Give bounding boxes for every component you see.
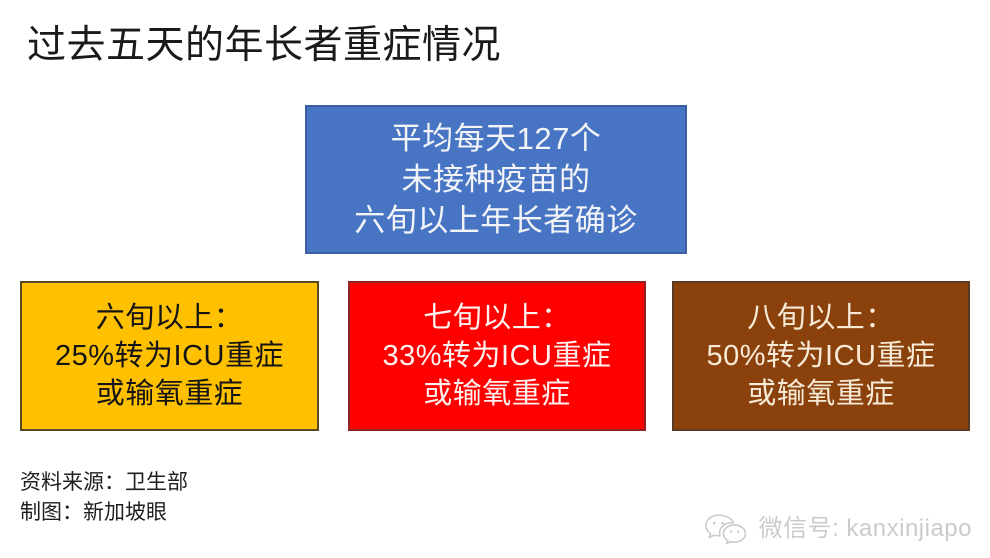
infographic-canvas: 过去五天的年长者重症情况 平均每天127个 未接种疫苗的 六旬以上年长者确诊 六… [0, 0, 990, 558]
age-group-70-heading: 七旬以上： [423, 299, 571, 337]
wechat-icon [703, 512, 749, 546]
summary-box: 平均每天127个 未接种疫苗的 六旬以上年长者确诊 [305, 105, 687, 254]
age-group-70-detail-1: 33%转为ICU重症 [383, 337, 612, 375]
footer-attribution: 资料来源：卫生部 制图：新加坡眼 [20, 468, 188, 528]
page-title: 过去五天的年长者重症情况 [27, 22, 501, 70]
age-group-70-detail-2: 或输氧重症 [423, 375, 571, 413]
age-group-80-detail-2: 或输氧重症 [747, 375, 895, 413]
age-group-60-detail-1: 25%转为ICU重症 [55, 337, 284, 375]
age-group-box-60-plus: 六旬以上： 25%转为ICU重症 或输氧重症 [20, 281, 319, 431]
age-group-60-detail-2: 或输氧重症 [96, 375, 244, 413]
age-group-box-70-plus: 七旬以上： 33%转为ICU重症 或输氧重症 [348, 281, 646, 431]
wechat-watermark: 微信号: kanxinjiapo [703, 512, 972, 546]
footer-source-line: 资料来源：卫生部 [20, 468, 188, 498]
footer-credit-line: 制图：新加坡眼 [20, 498, 188, 528]
summary-line-3: 六旬以上年长者确诊 [354, 200, 638, 241]
summary-line-1: 平均每天127个 [391, 118, 602, 159]
age-group-80-detail-1: 50%转为ICU重症 [707, 337, 936, 375]
age-group-60-heading: 六旬以上： [96, 299, 244, 337]
wechat-id-text: 微信号: kanxinjiapo [759, 514, 972, 544]
age-group-box-80-plus: 八旬以上： 50%转为ICU重症 或输氧重症 [672, 281, 970, 431]
summary-line-2: 未接种疫苗的 [402, 159, 591, 200]
age-group-80-heading: 八旬以上： [747, 299, 895, 337]
